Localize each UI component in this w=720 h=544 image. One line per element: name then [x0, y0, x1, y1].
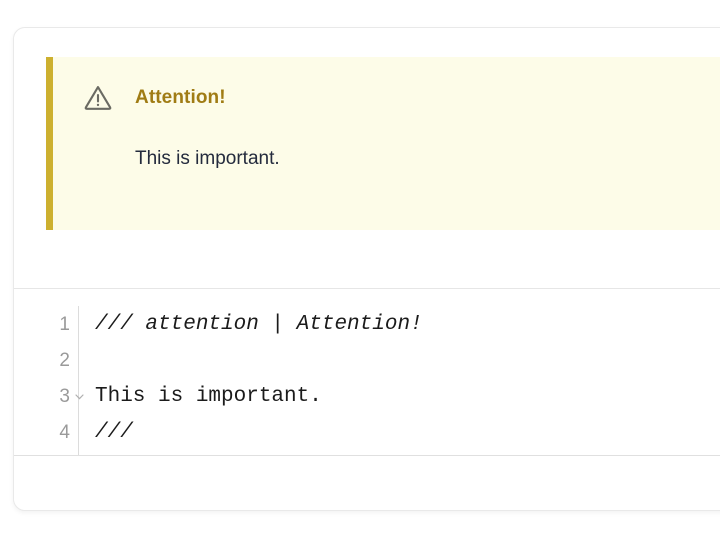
attention-callout: Attention! This is important.	[46, 57, 720, 230]
card-footer	[14, 457, 720, 510]
code-line[interactable]	[95, 342, 720, 378]
code-line[interactable]: ///	[95, 414, 720, 450]
code-line[interactable]: This is important.	[95, 378, 720, 414]
code-line[interactable]: /// attention | Attention!	[95, 306, 720, 342]
gutter-line: 1	[14, 306, 78, 342]
code-content-area[interactable]: /// attention | Attention! This is impor…	[79, 306, 720, 455]
gutter-line: 4	[14, 414, 78, 450]
example-card: Attention! This is important. 1 2 3	[13, 27, 720, 511]
chevron-down-icon[interactable]	[73, 390, 85, 402]
line-number-gutter: 1 2 3 4	[14, 306, 79, 455]
warning-triangle-icon	[83, 84, 113, 111]
gutter-line: 3	[14, 378, 78, 414]
preview-pane: Attention! This is important.	[14, 28, 720, 288]
line-number: 2	[59, 351, 70, 370]
source-code-pane: 1 2 3 4 /// attention | Attention! This …	[14, 289, 720, 456]
line-number: 3	[59, 387, 70, 406]
line-number: 1	[59, 315, 70, 334]
gutter-line: 2	[14, 342, 78, 378]
callout-body-text: This is important.	[135, 146, 720, 172]
callout-heading-row: Attention!	[83, 83, 720, 111]
callout-title: Attention!	[135, 88, 226, 107]
line-number: 4	[59, 423, 70, 442]
